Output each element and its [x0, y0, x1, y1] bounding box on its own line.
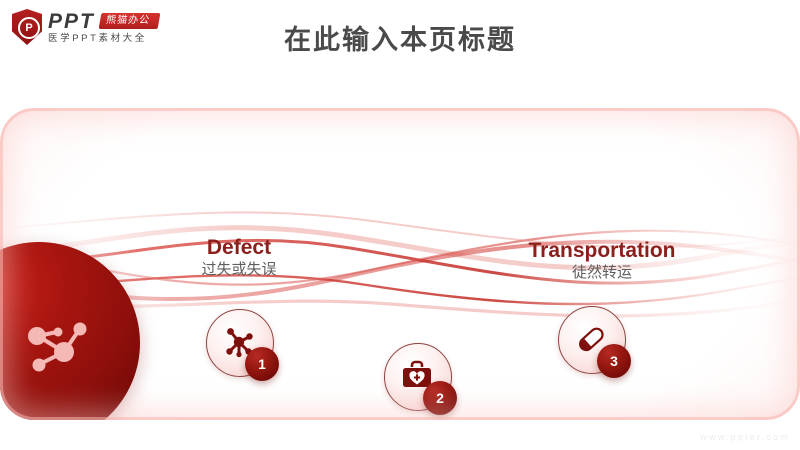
label-transportation-cn: 徒然转运 [502, 262, 702, 285]
label-defect-en: Defect [139, 236, 339, 259]
node-badge-1: 1 [245, 347, 279, 381]
label-transportation: Transportation 徒然转运 [502, 239, 702, 285]
label-transportation-en: Transportation [502, 239, 702, 262]
page-title: 在此输入本页标题 [0, 18, 800, 57]
site-watermark: www.ppter.com [700, 432, 790, 442]
label-defect-cn: 过失或失误 [139, 259, 339, 282]
node-badge-3: 3 [597, 344, 631, 378]
label-defect: Defect 过失或失误 [139, 236, 339, 282]
node-badge-2: 2 [423, 381, 457, 415]
node-circle-transportation[interactable]: 3 [558, 306, 624, 372]
network-nodes-icon [24, 314, 94, 376]
node-circle-defect[interactable]: 1 [206, 309, 272, 375]
content-panel: 1 2 3 [0, 108, 800, 420]
node-circle-extraprocessing[interactable]: 2 [384, 343, 450, 409]
